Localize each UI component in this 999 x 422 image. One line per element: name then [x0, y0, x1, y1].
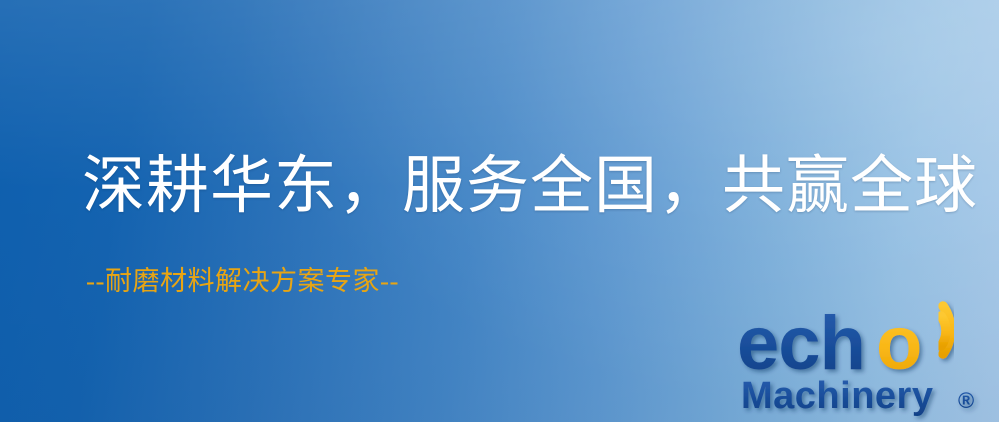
- promo-banner: 深耕华东，服务全国，共赢全球 --耐磨材料解决方案专家--: [0, 0, 999, 422]
- banner-subtitle: --耐磨材料解决方案专家--: [86, 265, 399, 297]
- logo-wordmark-blue: ech: [737, 301, 865, 386]
- logo-wordmark-gold: o: [876, 301, 922, 386]
- logo-tagline: Machinery: [741, 375, 933, 417]
- echo-machinery-logo: ech o Machinery ®: [735, 292, 997, 420]
- page-title: 深耕华东，服务全国，共赢全球: [82, 152, 978, 221]
- echo-wave-icon: [941, 306, 951, 354]
- registered-trademark-icon: ®: [958, 388, 974, 413]
